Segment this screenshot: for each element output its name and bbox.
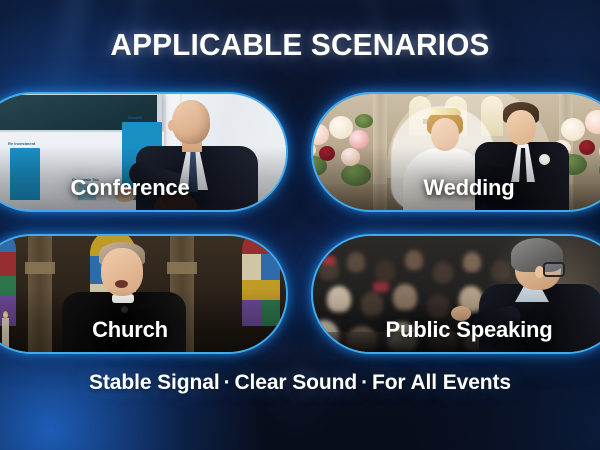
tagline-item-2: Clear Sound (234, 371, 357, 394)
scenario-label-wedding: Wedding (313, 175, 600, 201)
scenario-label-conference: Conference (0, 175, 286, 201)
tagline-item-3: For All Events (372, 371, 511, 394)
tagline-separator: · (220, 371, 235, 395)
tagline-item-1: Stable Signal (89, 371, 220, 394)
scenario-card-church[interactable]: Church (0, 236, 286, 352)
tagline-separator: · (357, 371, 372, 395)
scenario-card-conference[interactable]: Working Capital Re Investment Corporate … (0, 94, 286, 210)
scenario-label-church: Church (0, 317, 286, 343)
footer-tagline: Stable Signal·Clear Sound·For All Events (0, 371, 600, 395)
scenario-card-wedding[interactable]: Wedding (313, 94, 600, 210)
scenario-label-public-speaking: Public Speaking (313, 317, 600, 343)
promo-banner: APPLICABLE SCENARIOS Working Capital Re … (0, 0, 600, 450)
scenario-card-public-speaking[interactable]: Public Speaking (313, 236, 600, 352)
